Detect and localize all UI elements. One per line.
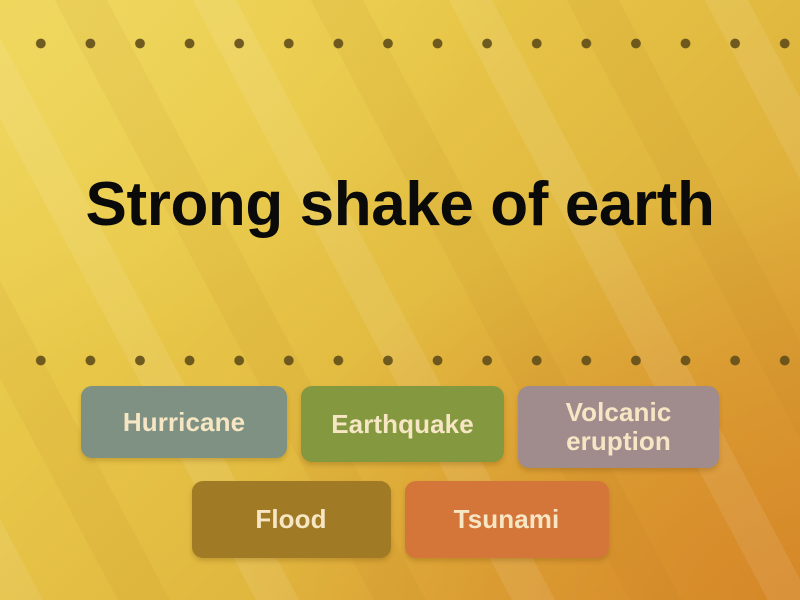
answer-option-volcanic-eruption[interactable]: Volcanic eruption (518, 386, 719, 468)
dotted-divider-bottom (0, 353, 800, 367)
question-text: Strong shake of earth (86, 171, 715, 239)
dotted-divider-top (0, 36, 800, 50)
dotted-divider-dots (0, 38, 800, 49)
answer-row-2: Flood Tsunami (192, 481, 609, 558)
answer-option-earthquake[interactable]: Earthquake (301, 386, 504, 462)
dotted-divider-dots (0, 355, 800, 366)
answer-option-flood[interactable]: Flood (192, 481, 391, 558)
answer-options: Hurricane Earthquake Volcanic eruption F… (0, 386, 800, 558)
question-area: Strong shake of earth (0, 58, 800, 353)
answer-option-hurricane[interactable]: Hurricane (81, 386, 287, 458)
answer-row-1: Hurricane Earthquake Volcanic eruption (81, 386, 719, 468)
answer-option-tsunami[interactable]: Tsunami (405, 481, 609, 558)
quiz-slide: Strong shake of earth Hurricane Earthqua… (0, 0, 800, 600)
